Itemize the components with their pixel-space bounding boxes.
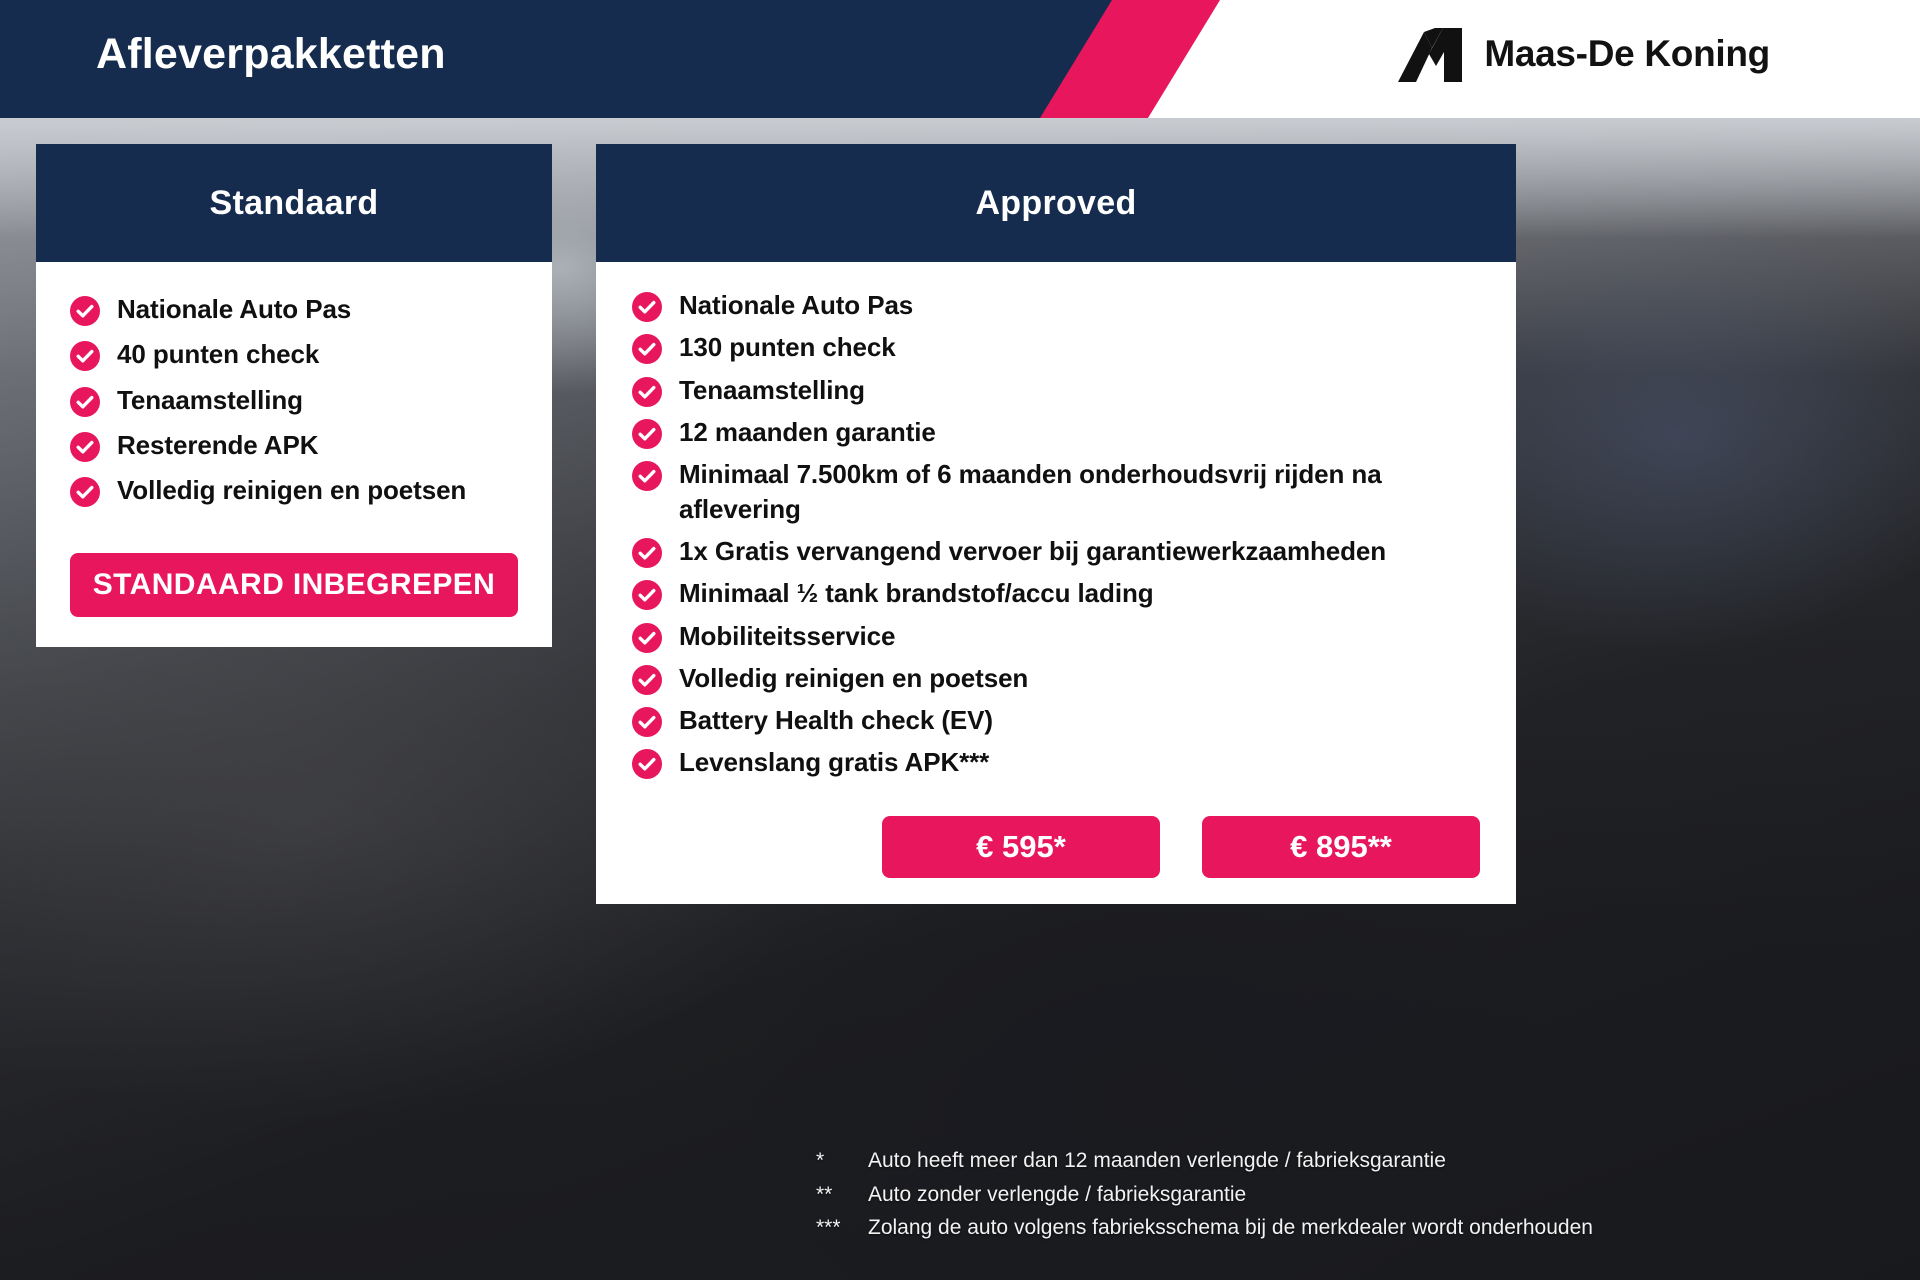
list-item: Volledig reinigen en poetsen: [632, 661, 1486, 695]
check-circle-icon: [632, 580, 662, 610]
list-item: Tenaamstelling: [70, 383, 518, 417]
list-item: Minimaal 7.500km of 6 maanden onderhouds…: [632, 457, 1486, 526]
footnote-text: Auto heeft meer dan 12 maanden verlengde…: [868, 1148, 1876, 1174]
page-title: Afleverpakketten: [96, 30, 446, 79]
footnote-marker: ***: [816, 1215, 868, 1241]
list-item: 12 maanden garantie: [632, 415, 1486, 449]
feature-label: Tenaamstelling: [679, 373, 865, 407]
card-header-approved: Approved: [596, 144, 1516, 262]
feature-label: Volledig reinigen en poetsen: [117, 473, 466, 507]
list-item: Battery Health check (EV): [632, 703, 1486, 737]
feature-label: 40 punten check: [117, 337, 319, 371]
feature-label: Levenslang gratis APK***: [679, 745, 989, 779]
check-circle-icon: [70, 341, 100, 371]
feature-label: Tenaamstelling: [117, 383, 303, 417]
card-title-approved: Approved: [975, 184, 1136, 223]
check-circle-icon: [70, 387, 100, 417]
standaard-inbegrepen-button[interactable]: STANDAARD INBEGREPEN: [70, 553, 518, 617]
check-circle-icon: [632, 538, 662, 568]
list-item: 130 punten check: [632, 330, 1486, 364]
card-title-standaard: Standaard: [210, 184, 379, 223]
card-header-standaard: Standaard: [36, 144, 552, 262]
price-button-895[interactable]: € 895**: [1202, 816, 1480, 878]
check-circle-icon: [632, 461, 662, 491]
feature-label: Battery Health check (EV): [679, 703, 993, 737]
feature-label: Minimaal 7.500km of 6 maanden onderhouds…: [679, 457, 1486, 526]
check-circle-icon: [70, 477, 100, 507]
footnote-text: Auto zonder verlengde / fabrieksgarantie: [868, 1182, 1876, 1208]
feature-label: Volledig reinigen en poetsen: [679, 661, 1028, 695]
feature-label: 1x Gratis vervangend vervoer bij garanti…: [679, 534, 1386, 568]
check-circle-icon: [70, 296, 100, 326]
footnote-double-asterisk: ** Auto zonder verlengde / fabrieksgaran…: [816, 1182, 1876, 1208]
list-item: Resterende APK: [70, 428, 518, 462]
list-item: 1x Gratis vervangend vervoer bij garanti…: [632, 534, 1486, 568]
list-item: Tenaamstelling: [632, 373, 1486, 407]
feature-list-standaard: Nationale Auto Pas 40 punten check Tenaa…: [70, 292, 518, 508]
footnote-marker: **: [816, 1182, 868, 1208]
check-circle-icon: [632, 665, 662, 695]
check-circle-icon: [70, 432, 100, 462]
feature-label: 130 punten check: [679, 330, 896, 364]
price-button-row: € 595* € 895**: [632, 816, 1486, 878]
feature-label: Nationale Auto Pas: [679, 288, 913, 322]
feature-label: Mobiliteitsservice: [679, 619, 895, 653]
check-circle-icon: [632, 749, 662, 779]
card-body-standaard: Nationale Auto Pas 40 punten check Tenaa…: [36, 262, 552, 647]
list-item: Nationale Auto Pas: [632, 288, 1486, 322]
feature-label: Nationale Auto Pas: [117, 292, 351, 326]
footnote-triple-asterisk: *** Zolang de auto volgens fabrieksschem…: [816, 1215, 1876, 1241]
list-item: Volledig reinigen en poetsen: [70, 473, 518, 507]
footnote-single-asterisk: * Auto heeft meer dan 12 maanden verleng…: [816, 1148, 1876, 1174]
check-circle-icon: [632, 334, 662, 364]
check-circle-icon: [632, 419, 662, 449]
list-item: 40 punten check: [70, 337, 518, 371]
check-circle-icon: [632, 707, 662, 737]
footnote-text: Zolang de auto volgens fabrieksschema bi…: [868, 1215, 1876, 1241]
footnote-marker: *: [816, 1148, 868, 1174]
footnotes-block: * Auto heeft meer dan 12 maanden verleng…: [816, 1148, 1876, 1249]
page-header: Afleverpakketten Maas-De Koning: [0, 0, 1920, 118]
list-item: Minimaal ½ tank brandstof/accu lading: [632, 576, 1486, 610]
package-card-approved: Approved Nationale Auto Pas 130 punten c…: [596, 144, 1516, 904]
brand-lockup: Maas-De Koning: [1398, 26, 1770, 82]
feature-list-approved: Nationale Auto Pas 130 punten check Tena…: [632, 288, 1486, 780]
maas-de-koning-logo-icon: [1398, 26, 1462, 82]
list-item: Levenslang gratis APK***: [632, 745, 1486, 779]
check-circle-icon: [632, 292, 662, 322]
feature-label: Resterende APK: [117, 428, 318, 462]
list-item: Nationale Auto Pas: [70, 292, 518, 326]
check-circle-icon: [632, 623, 662, 653]
check-circle-icon: [632, 377, 662, 407]
brand-name: Maas-De Koning: [1484, 33, 1770, 75]
card-body-approved: Nationale Auto Pas 130 punten check Tena…: [596, 262, 1516, 904]
package-card-standaard: Standaard Nationale Auto Pas 40 punten c…: [36, 144, 552, 647]
feature-label: 12 maanden garantie: [679, 415, 936, 449]
feature-label: Minimaal ½ tank brandstof/accu lading: [679, 576, 1154, 610]
list-item: Mobiliteitsservice: [632, 619, 1486, 653]
price-button-595[interactable]: € 595*: [882, 816, 1160, 878]
